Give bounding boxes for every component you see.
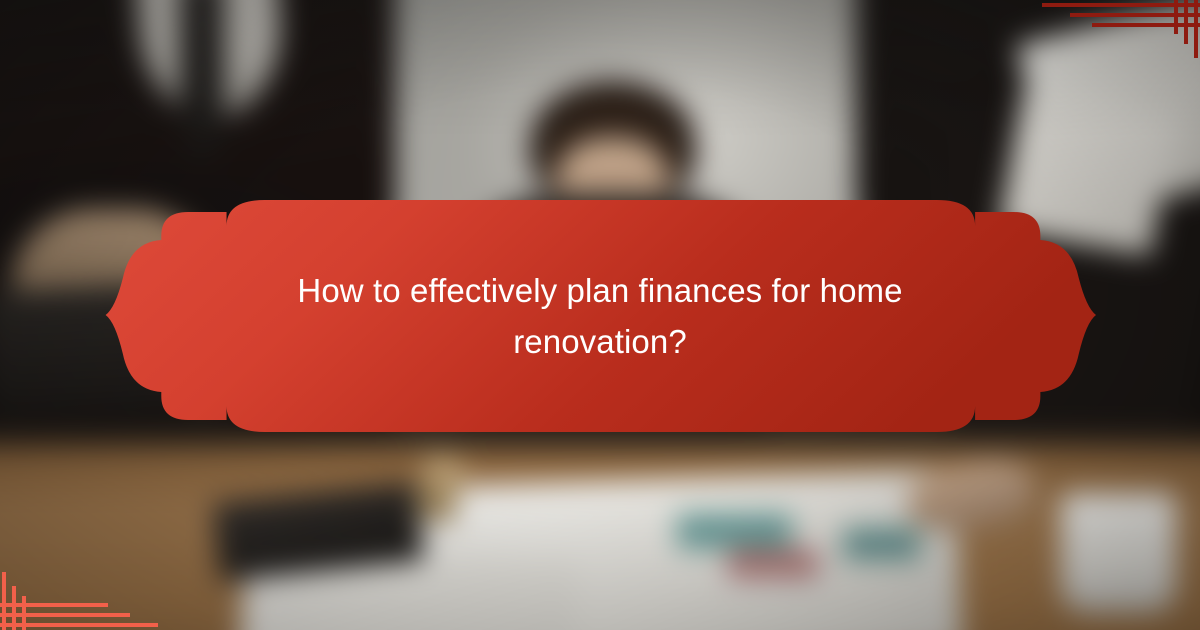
figure-left-tie [180, 0, 224, 159]
title-ribbon-badge: How to effectively plan finances for hom… [104, 196, 1096, 436]
title-line-1: How to effectively plan finances for hom… [297, 265, 902, 316]
chart-swatch-red [728, 549, 818, 577]
title-line-2: renovation? [513, 316, 687, 367]
header-card: How to effectively plan finances for hom… [0, 0, 1200, 630]
white-cup [1061, 493, 1176, 614]
title-text-block: How to effectively plan finances for hom… [104, 196, 1096, 436]
chart-swatch-teal [677, 514, 792, 550]
chart-swatch-teal-2 [843, 528, 920, 560]
